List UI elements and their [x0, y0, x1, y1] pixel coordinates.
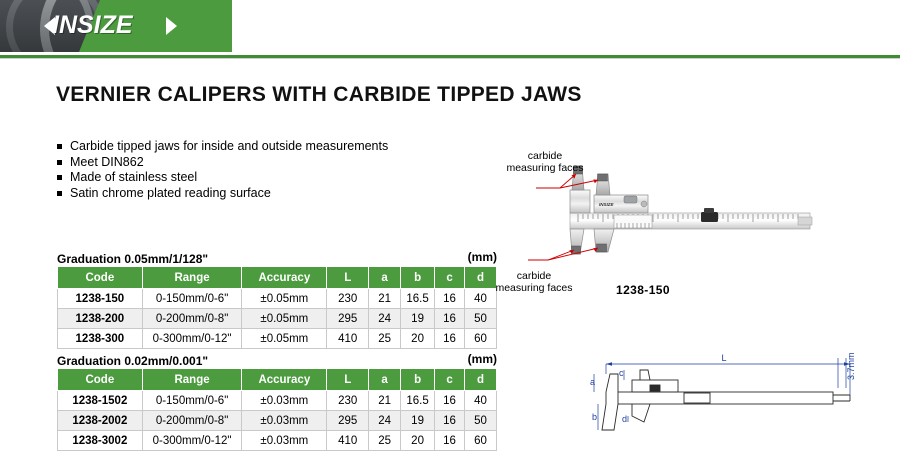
cell-a: 24 — [369, 309, 401, 329]
cell-d: 60 — [465, 431, 497, 451]
cell-b: 20 — [401, 431, 435, 451]
figure-part-code: 1238-150 — [616, 283, 670, 297]
cell-accuracy: ±0.05mm — [242, 309, 327, 329]
list-item: Made of stainless steel — [57, 170, 388, 186]
list-item: Satin chrome plated reading surface — [57, 186, 388, 202]
cell-d: 60 — [465, 329, 497, 349]
table-row: 1238-150 0-150mm/0-6" ±0.05mm 230 21 16.… — [58, 289, 497, 309]
dimension-a-label: a — [590, 377, 595, 387]
cell-range: 0-150mm/0-6" — [142, 289, 242, 309]
logo-arrow-right-icon — [166, 17, 177, 35]
caliper-drawing-svg: L 3.7mm a b c d — [588, 352, 868, 448]
cell-code: 1238-3002 — [58, 431, 143, 451]
feature-list: Carbide tipped jaws for inside and outsi… — [57, 139, 388, 201]
column-header: b — [401, 369, 435, 391]
table-row: 1238-200 0-200mm/0-8" ±0.05mm 295 24 19 … — [58, 309, 497, 329]
cell-c: 16 — [435, 411, 465, 431]
table-header-row: Code Range Accuracy L a b c d — [58, 369, 497, 391]
insize-logo: INSIZE — [44, 11, 204, 41]
callout-top-line1: carbide — [490, 150, 600, 162]
dimension-c-label: c — [619, 368, 624, 378]
cell-L: 295 — [327, 411, 369, 431]
callout-top-line2: measuring faces — [490, 162, 600, 174]
cell-b: 19 — [401, 411, 435, 431]
header-thin-rule — [0, 58, 900, 59]
spec-table-block-2: Graduation 0.02mm/0.001" (mm) Code Range… — [57, 352, 497, 451]
page-header: INSIZE — [0, 0, 900, 58]
table-header-row: Code Range Accuracy L a b c d — [58, 267, 497, 289]
list-item: Carbide tipped jaws for inside and outsi… — [57, 139, 388, 155]
cell-c: 16 — [435, 431, 465, 451]
cell-d: 40 — [465, 391, 497, 411]
dimension-note-label: 3.7mm — [846, 352, 856, 380]
cell-range: 0-200mm/0-8" — [142, 309, 242, 329]
cell-c: 16 — [435, 309, 465, 329]
column-header: a — [369, 369, 401, 391]
list-item: Meet DIN862 — [57, 155, 388, 171]
cell-accuracy: ±0.05mm — [242, 289, 327, 309]
spec-table: Code Range Accuracy L a b c d 1238-1502 … — [57, 368, 497, 451]
cell-code: 1238-200 — [58, 309, 143, 329]
cell-d: 50 — [465, 309, 497, 329]
cell-c: 16 — [435, 391, 465, 411]
tool-brand-text: INSIZE — [599, 202, 615, 207]
cell-L: 230 — [327, 391, 369, 411]
column-header: Code — [58, 267, 143, 289]
dimension-b-label: b — [592, 412, 597, 422]
column-header: L — [327, 369, 369, 391]
column-header: Range — [142, 267, 242, 289]
column-header: Accuracy — [242, 267, 327, 289]
column-header: b — [401, 267, 435, 289]
dimension-d-label: d — [622, 414, 627, 424]
cell-d: 50 — [465, 411, 497, 431]
cell-a: 21 — [369, 391, 401, 411]
cell-accuracy: ±0.05mm — [242, 329, 327, 349]
table-row: 1238-1502 0-150mm/0-6" ±0.03mm 230 21 16… — [58, 391, 497, 411]
dimension-L-label: L — [721, 353, 726, 363]
column-header: c — [435, 369, 465, 391]
table-unit-label: (mm) — [468, 352, 497, 366]
cell-range: 0-150mm/0-6" — [142, 391, 242, 411]
page-title: VERNIER CALIPERS WITH CARBIDE TIPPED JAW… — [56, 83, 582, 107]
column-header: Code — [58, 369, 143, 391]
cell-code: 1238-150 — [58, 289, 143, 309]
cell-a: 24 — [369, 411, 401, 431]
column-header: Accuracy — [242, 369, 327, 391]
cell-L: 410 — [327, 431, 369, 451]
table-caption: Graduation 0.05mm/1/128" — [57, 252, 208, 266]
callout-bottom-label: carbide measuring faces — [474, 270, 594, 294]
cell-code: 1238-2002 — [58, 411, 143, 431]
cell-L: 410 — [327, 329, 369, 349]
cell-code: 1238-1502 — [58, 391, 143, 411]
cell-b: 16.5 — [401, 391, 435, 411]
cell-range: 0-200mm/0-8" — [142, 411, 242, 431]
cell-accuracy: ±0.03mm — [242, 411, 327, 431]
cell-b: 20 — [401, 329, 435, 349]
cell-a: 25 — [369, 431, 401, 451]
cell-c: 16 — [435, 329, 465, 349]
table-row: 1238-3002 0-300mm/0-12" ±0.03mm 410 25 2… — [58, 431, 497, 451]
cell-L: 295 — [327, 309, 369, 329]
cell-code: 1238-300 — [58, 329, 143, 349]
cell-a: 21 — [369, 289, 401, 309]
callout-top-label: carbide measuring faces — [490, 150, 600, 174]
caliper-photo-figure: INSIZE carbide measuring faces carbide m… — [498, 150, 843, 310]
table-caption: Graduation 0.02mm/0.001" — [57, 354, 208, 368]
cell-b: 19 — [401, 309, 435, 329]
column-header: d — [465, 369, 497, 391]
callout-bottom-line2: measuring faces — [474, 282, 594, 294]
table-unit-label: (mm) — [468, 250, 497, 264]
cell-b: 16.5 — [401, 289, 435, 309]
column-header: Range — [142, 369, 242, 391]
column-header: c — [435, 267, 465, 289]
cell-accuracy: ±0.03mm — [242, 431, 327, 451]
spec-table-block-1: Graduation 0.05mm/1/128" (mm) Code Range… — [57, 250, 497, 349]
cell-a: 25 — [369, 329, 401, 349]
caliper-drawing-figure: L 3.7mm a b c d — [588, 352, 868, 448]
cell-range: 0-300mm/0-12" — [142, 431, 242, 451]
callout-bottom-line1: carbide — [474, 270, 594, 282]
cell-accuracy: ±0.03mm — [242, 391, 327, 411]
column-header: L — [327, 267, 369, 289]
table-row: 1238-300 0-300mm/0-12" ±0.05mm 410 25 20… — [58, 329, 497, 349]
cell-L: 230 — [327, 289, 369, 309]
cell-range: 0-300mm/0-12" — [142, 329, 242, 349]
column-header: a — [369, 267, 401, 289]
logo-text: INSIZE — [52, 11, 133, 40]
table-row: 1238-2002 0-200mm/0-8" ±0.03mm 295 24 19… — [58, 411, 497, 431]
spec-table: Code Range Accuracy L a b c d 1238-150 0… — [57, 266, 497, 349]
cell-c: 16 — [435, 289, 465, 309]
